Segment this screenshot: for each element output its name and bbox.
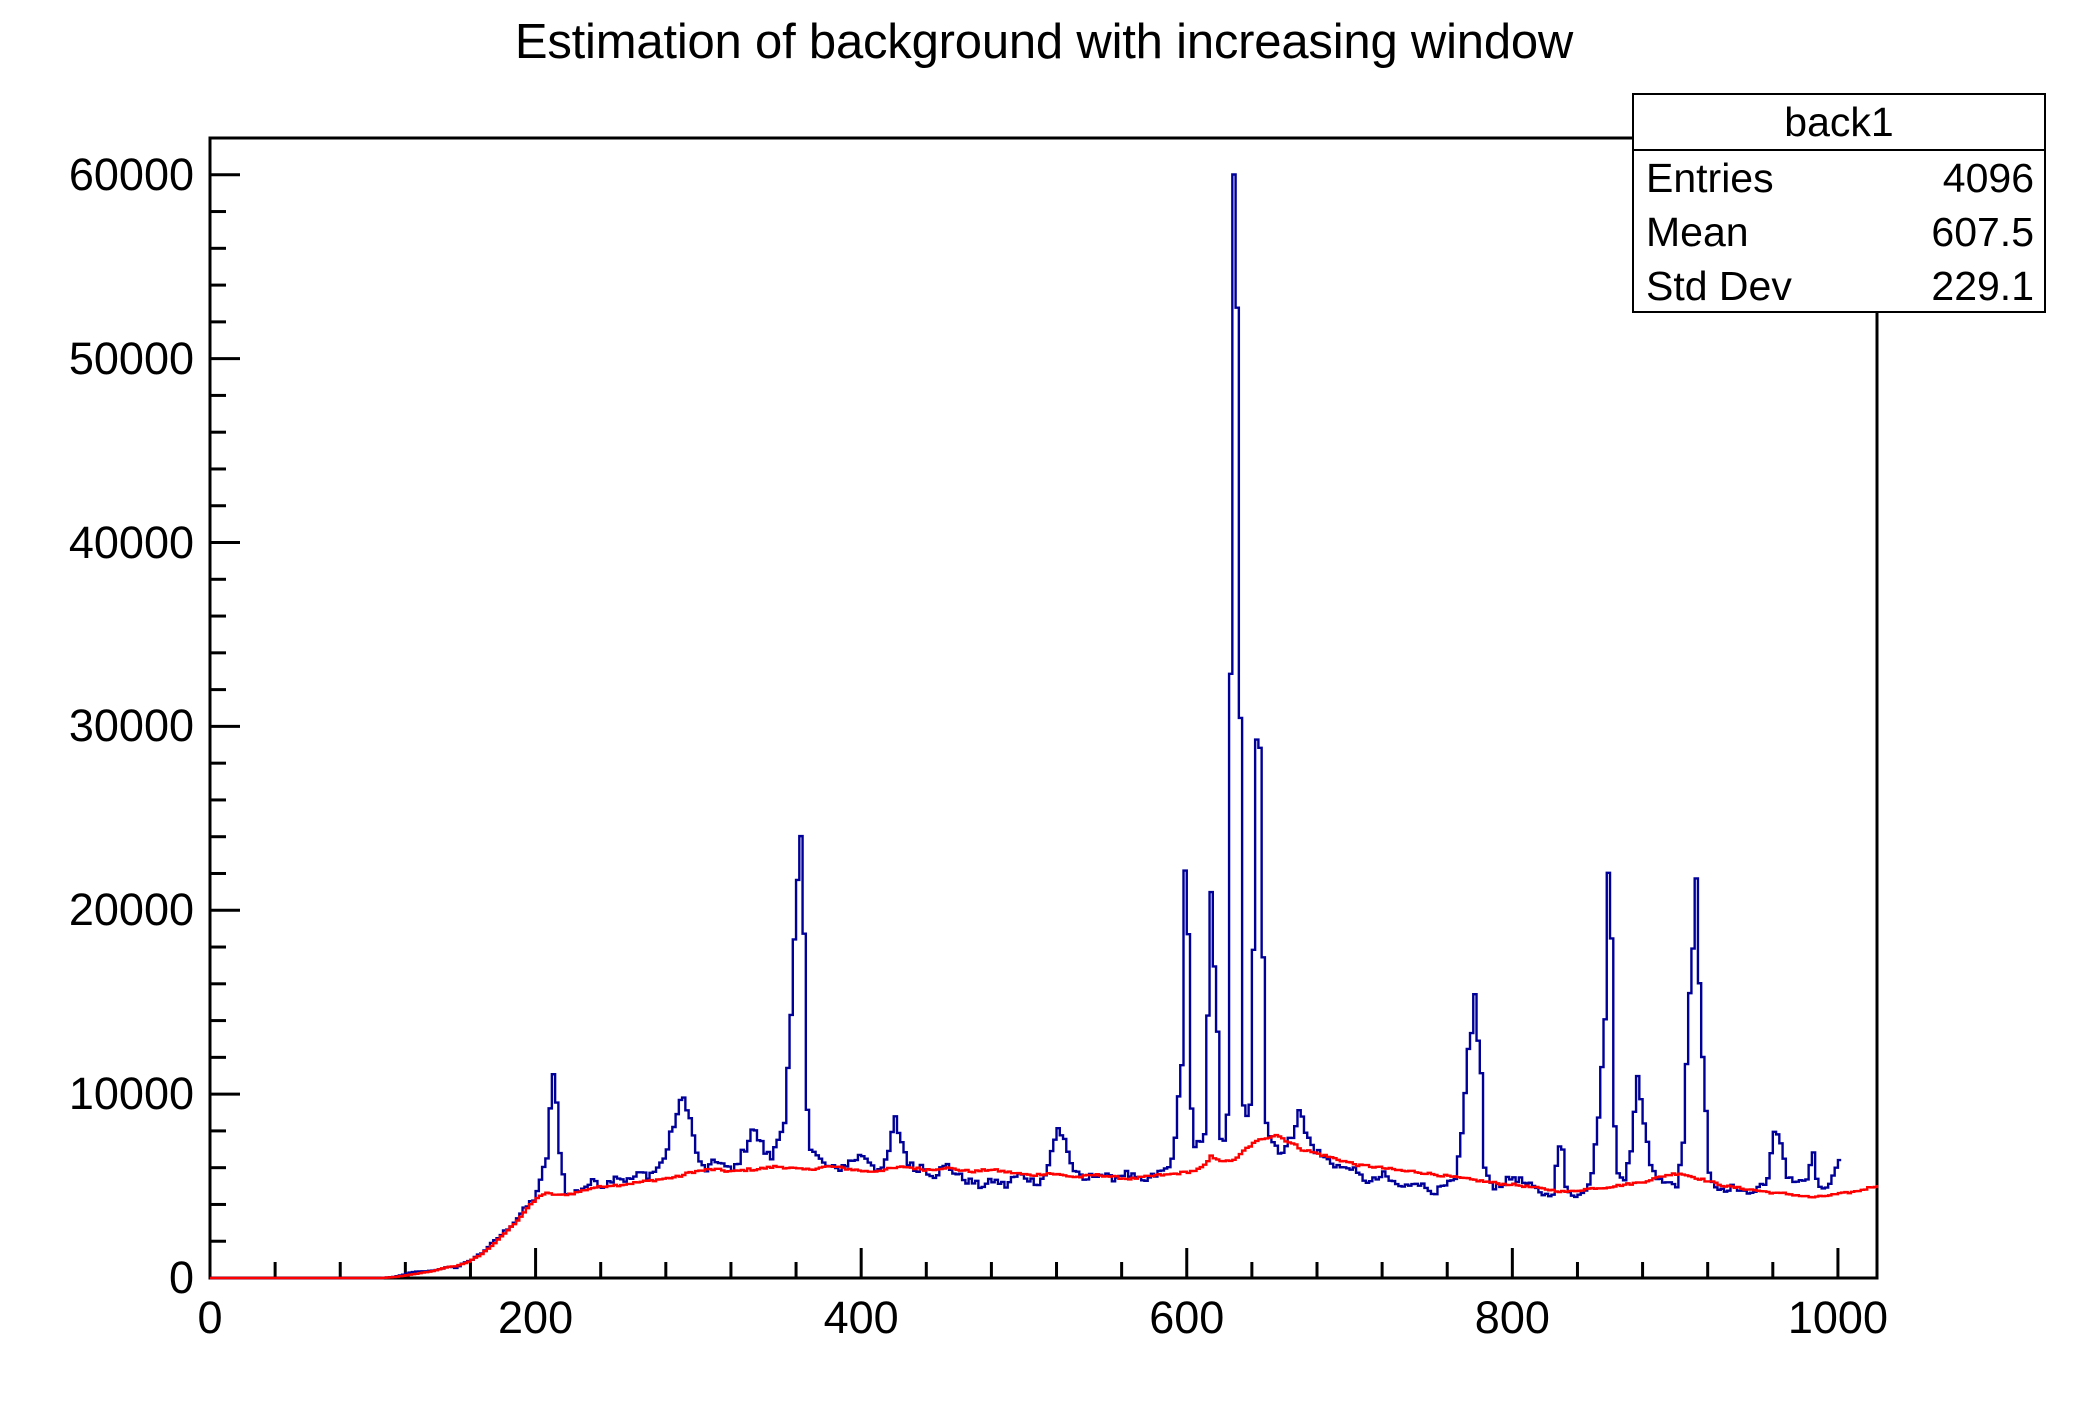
stats-row-value: 229.1 [1931, 259, 2034, 313]
plot-frame [210, 138, 1877, 1278]
stats-row-value: 607.5 [1931, 205, 2034, 259]
x-axis-tick-label: 400 [731, 1292, 991, 1344]
y-axis-tick-label: 30000 [69, 700, 194, 752]
stats-box-title: back1 [1634, 95, 2044, 151]
spectrum-curve [210, 174, 1841, 1278]
y-axis-tick-label: 50000 [69, 333, 194, 385]
stats-row-key: Std Dev [1646, 259, 1792, 313]
x-axis-tick-label: 600 [1057, 1292, 1317, 1344]
stats-box-rows: Entries4096Mean607.5Std Dev229.1 [1634, 151, 2044, 313]
background-estimate-curve [210, 1135, 1877, 1278]
stats-row: Mean607.5 [1634, 205, 2044, 259]
stats-row-key: Mean [1646, 205, 1749, 259]
stats-row: Std Dev229.1 [1634, 259, 2044, 313]
x-axis-ticks [210, 1248, 1838, 1278]
y-axis-tick-label: 20000 [69, 884, 194, 936]
x-axis-tick-label: 800 [1382, 1292, 1642, 1344]
x-axis-tick-label: 1000 [1708, 1292, 1968, 1344]
y-axis-tick-label: 60000 [69, 149, 194, 201]
data-series-layer [210, 174, 1877, 1278]
stats-box[interactable]: back1 Entries4096Mean607.5Std Dev229.1 [1632, 93, 2046, 313]
y-axis-tick-label: 10000 [69, 1068, 194, 1120]
stats-row-value: 4096 [1943, 151, 2034, 205]
y-axis-ticks [210, 138, 240, 1278]
x-axis-tick-label: 0 [80, 1292, 340, 1344]
stats-row-key: Entries [1646, 151, 1774, 205]
x-axis-tick-label: 200 [406, 1292, 666, 1344]
root-canvas: Estimation of background with increasing… [0, 0, 2088, 1416]
stats-row: Entries4096 [1634, 151, 2044, 205]
y-axis-tick-label: 40000 [69, 517, 194, 569]
